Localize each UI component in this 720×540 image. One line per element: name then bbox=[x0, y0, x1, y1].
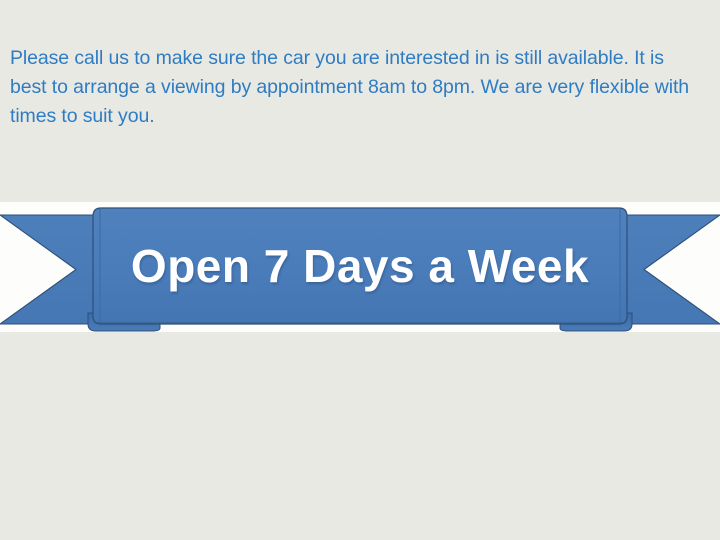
slide-canvas: Please call us to make sure the car you … bbox=[0, 0, 720, 540]
intro-paragraph: Please call us to make sure the car you … bbox=[10, 44, 700, 131]
ribbon-banner bbox=[0, 195, 720, 340]
ribbon-main-panel bbox=[93, 208, 627, 324]
ribbon-graphic bbox=[0, 195, 720, 340]
